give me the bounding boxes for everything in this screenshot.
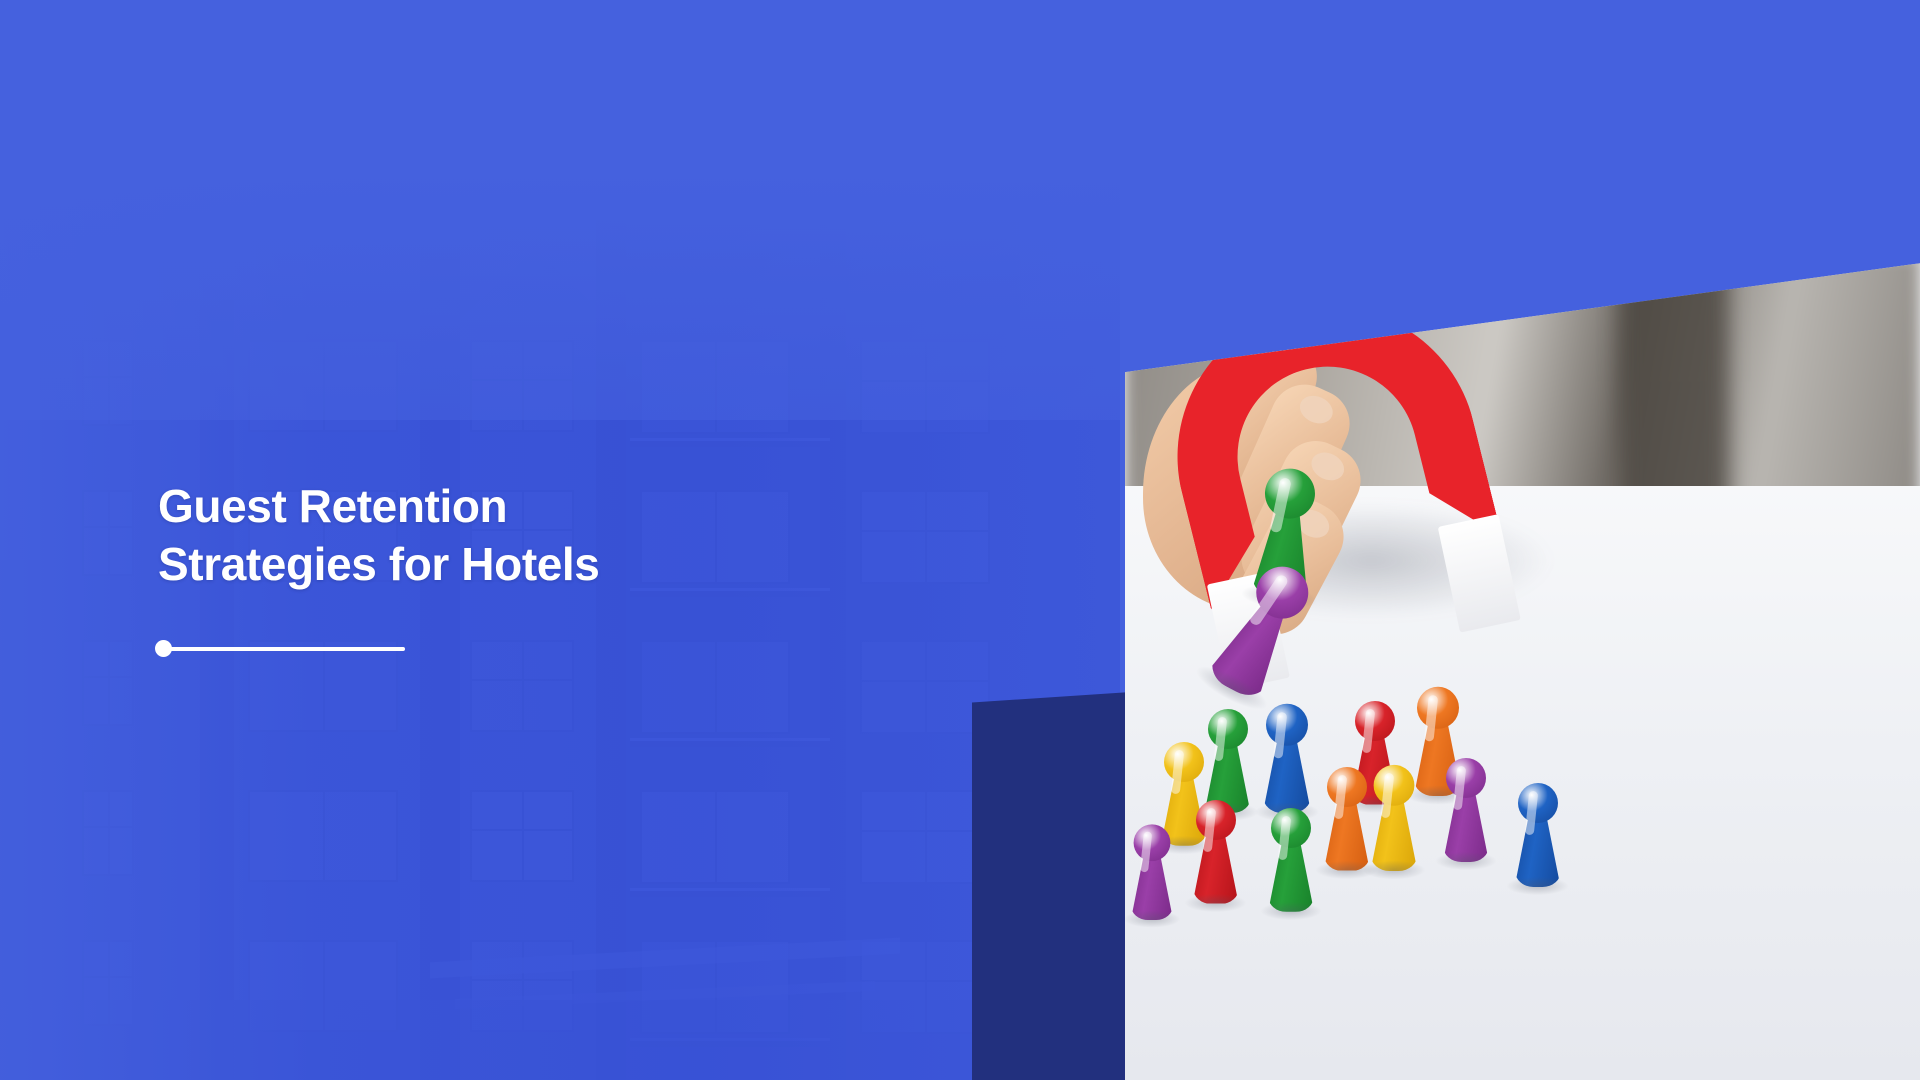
page-title: Guest Retention Strategies for Hotels [158,478,918,594]
pawn-head [1266,704,1308,746]
magnet-attracting-pawns-photo [1125,255,1920,1080]
page-title-line-1: Guest Retention [158,478,918,536]
pawn-head [1263,466,1318,521]
pawn-head [1134,824,1171,861]
pawn-head [1327,767,1367,807]
hero-banner: Guest Retention Strategies for Hotels [0,0,1920,1080]
pawn-body [1193,830,1239,904]
game-pawn-purple [1131,824,1173,920]
game-pawn-blue [1515,783,1561,887]
pawn-body [1131,852,1173,920]
page-title-line-2: Strategies for Hotels [158,536,918,594]
pawn-head [1271,808,1311,848]
pawn-body [1268,838,1314,912]
pawn-head [1446,758,1486,798]
pawn-head [1518,783,1558,823]
divider-line [169,647,405,651]
game-pawn-orange [1324,767,1370,871]
game-pawn-green [1268,808,1314,912]
game-pawn-purple [1443,758,1489,862]
pawn-body [1263,735,1311,813]
game-pawn-blue [1263,704,1311,813]
pawn-body [1324,797,1370,871]
pawn-body [1515,813,1561,887]
background-top-blue-fade [0,0,1120,420]
pawn-head [1355,701,1395,741]
game-pawn-yellow [1371,764,1418,870]
game-pawn-red [1193,800,1239,904]
game-pawn-green [1205,709,1251,813]
pawn-head [1208,709,1248,749]
pawn-body [1371,795,1418,870]
photo-backdrop-shadow [1618,255,1729,519]
pawn-body [1443,788,1489,862]
pawn-head [1196,800,1236,840]
pawn-head [1417,687,1459,729]
title-divider [155,640,405,657]
pawn-head [1374,764,1415,805]
pawn-head [1164,742,1204,782]
